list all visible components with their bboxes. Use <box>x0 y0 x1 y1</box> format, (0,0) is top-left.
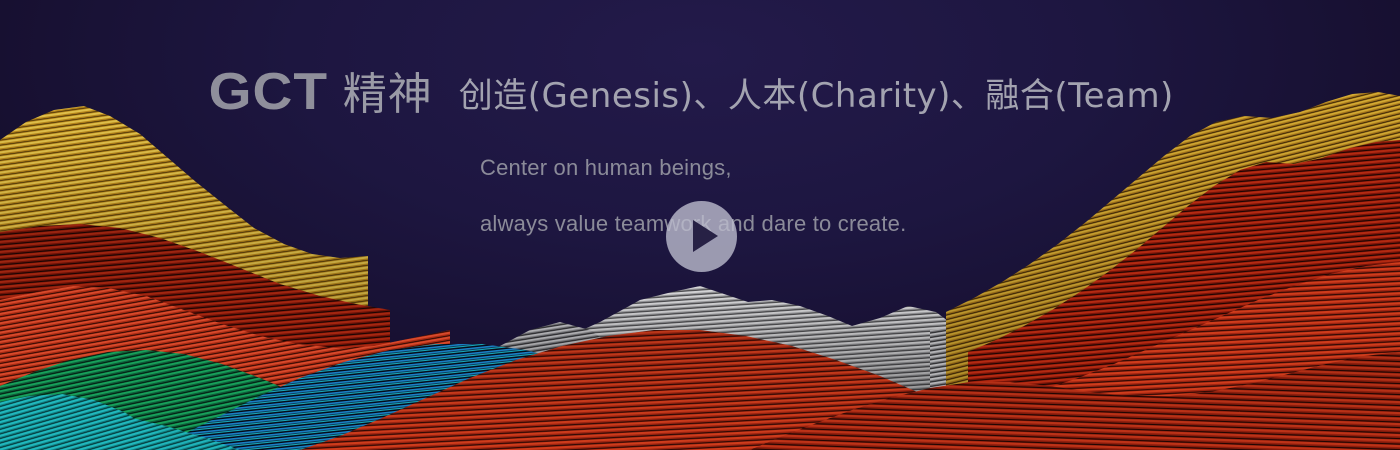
play-icon <box>693 220 718 252</box>
play-video-button[interactable] <box>666 201 737 272</box>
hero-banner: GCT 精神 创造(Genesis)、人本(Charity)、融合(Team) … <box>0 0 1400 450</box>
